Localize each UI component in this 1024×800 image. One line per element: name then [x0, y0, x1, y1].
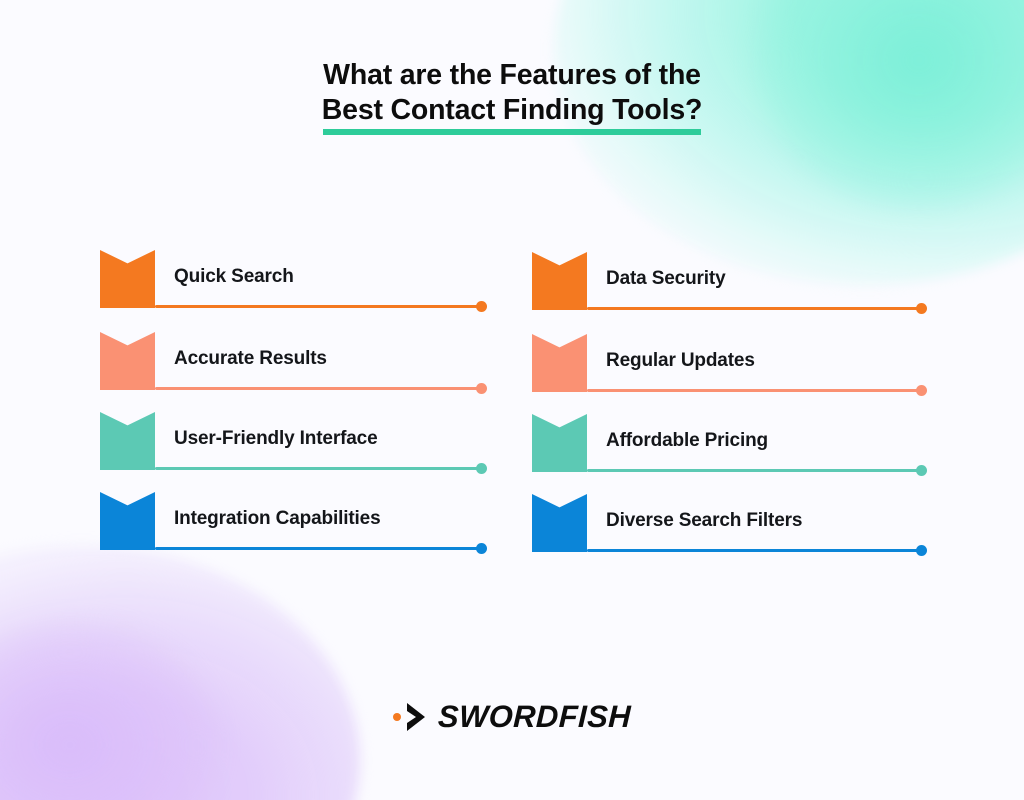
feature-item-user-friendly-interface[interactable]: User-Friendly Interface: [100, 412, 482, 470]
feature-label: Affordable Pricing: [606, 430, 768, 452]
feature-item-accurate-results[interactable]: Accurate Results: [100, 332, 482, 390]
ribbon-marker-icon: [532, 494, 587, 552]
page-title: What are the Features of the Best Contac…: [0, 58, 1024, 132]
feature-label: Regular Updates: [606, 350, 755, 372]
feature-end-dot-icon: [476, 301, 487, 312]
feature-item-regular-updates[interactable]: Regular Updates: [532, 334, 922, 392]
feature-baseline: [587, 307, 922, 310]
title-line-2: Best Contact Finding Tools?: [322, 93, 702, 128]
feature-baseline: [587, 549, 922, 552]
feature-baseline: [155, 547, 482, 550]
title-underline-accent: [323, 129, 701, 135]
feature-end-dot-icon: [916, 303, 927, 314]
feature-label: Diverse Search Filters: [606, 510, 802, 532]
swordfish-logo[interactable]: SWORDFISH: [0, 697, 1024, 737]
feature-item-quick-search[interactable]: Quick Search: [100, 250, 482, 308]
feature-list: Quick Search Accurate Results User-Frien…: [0, 250, 1024, 560]
ribbon-marker-icon: [100, 250, 155, 308]
feature-item-diverse-search-filters[interactable]: Diverse Search Filters: [532, 494, 922, 552]
logo-dot-icon: [393, 713, 401, 721]
feature-end-dot-icon: [916, 545, 927, 556]
ribbon-marker-icon: [100, 412, 155, 470]
infographic-content: What are the Features of the Best Contac…: [0, 0, 1024, 800]
ribbon-marker-icon: [532, 414, 587, 472]
swordfish-logo-mark: [393, 703, 426, 731]
feature-label: Accurate Results: [174, 348, 327, 370]
feature-item-integration-capabilities[interactable]: Integration Capabilities: [100, 492, 482, 550]
feature-baseline: [587, 469, 922, 472]
title-line-1: What are the Features of the: [0, 58, 1024, 93]
feature-baseline: [587, 389, 922, 392]
swordfish-wordmark: SWORDFISH: [437, 699, 631, 735]
feature-end-dot-icon: [916, 465, 927, 476]
feature-end-dot-icon: [476, 543, 487, 554]
feature-label: User-Friendly Interface: [174, 428, 378, 450]
feature-baseline: [155, 387, 482, 390]
feature-item-data-security[interactable]: Data Security: [532, 252, 922, 310]
feature-baseline: [155, 467, 482, 470]
feature-baseline: [155, 305, 482, 308]
feature-label: Data Security: [606, 268, 726, 290]
ribbon-marker-icon: [532, 334, 587, 392]
ribbon-marker-icon: [100, 492, 155, 550]
ribbon-marker-icon: [532, 252, 587, 310]
ribbon-marker-icon: [100, 332, 155, 390]
feature-label: Quick Search: [174, 266, 294, 288]
chevron-right-icon: [404, 703, 426, 731]
feature-item-affordable-pricing[interactable]: Affordable Pricing: [532, 414, 922, 472]
title-line-2-wrapper: Best Contact Finding Tools?: [322, 93, 702, 132]
feature-end-dot-icon: [476, 463, 487, 474]
feature-end-dot-icon: [916, 385, 927, 396]
feature-label: Integration Capabilities: [174, 508, 381, 530]
feature-end-dot-icon: [476, 383, 487, 394]
